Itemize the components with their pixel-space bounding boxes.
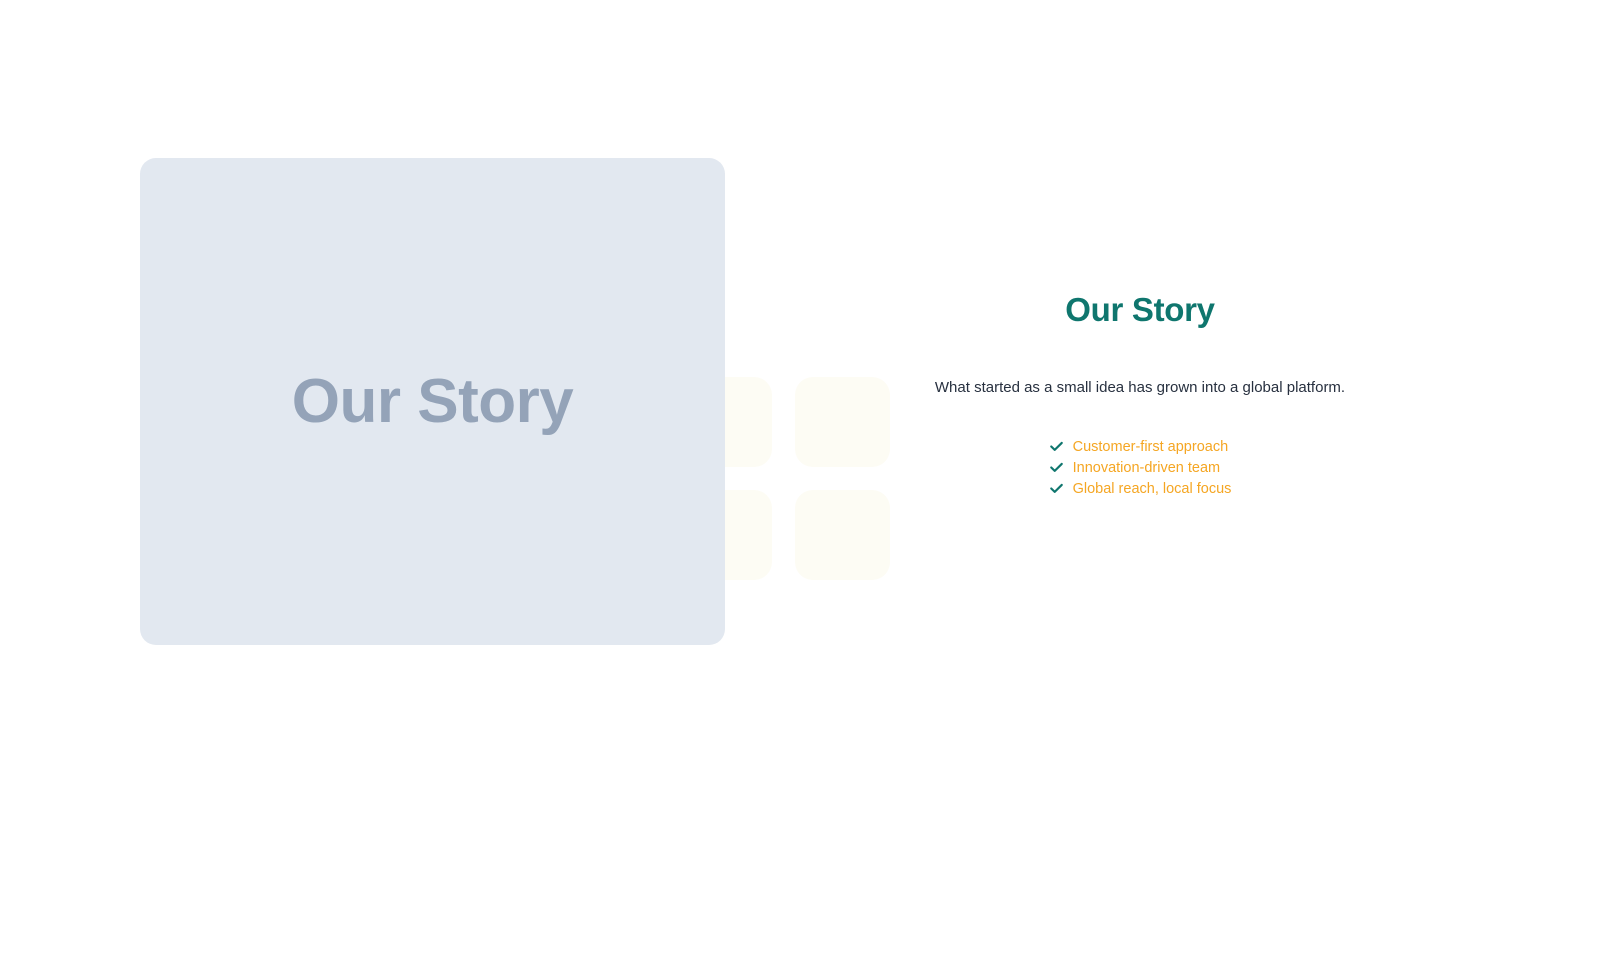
feature-label: Innovation-driven team — [1073, 461, 1221, 476]
page-title: Our Story — [885, 290, 1395, 330]
story-visual-placeholder: Our Story — [140, 158, 725, 645]
deco-square-2 — [795, 377, 890, 467]
check-icon — [1049, 460, 1064, 475]
check-icon — [1049, 481, 1064, 496]
story-content-column: Our Story What started as a small idea h… — [885, 290, 1395, 501]
story-visual-placeholder-label: Our Story — [292, 371, 573, 433]
story-lead-paragraph: What started as a small idea has grown i… — [885, 330, 1395, 399]
feature-checklist: Customer-first approach Innovation-drive… — [1049, 398, 1232, 499]
list-item: Innovation-driven team — [1049, 457, 1232, 478]
list-item: Global reach, local focus — [1049, 478, 1232, 499]
feature-label: Customer-first approach — [1073, 440, 1229, 455]
list-item: Customer-first approach — [1049, 436, 1232, 457]
feature-label: Global reach, local focus — [1073, 482, 1232, 497]
deco-square-4 — [795, 490, 890, 580]
check-icon — [1049, 439, 1064, 454]
